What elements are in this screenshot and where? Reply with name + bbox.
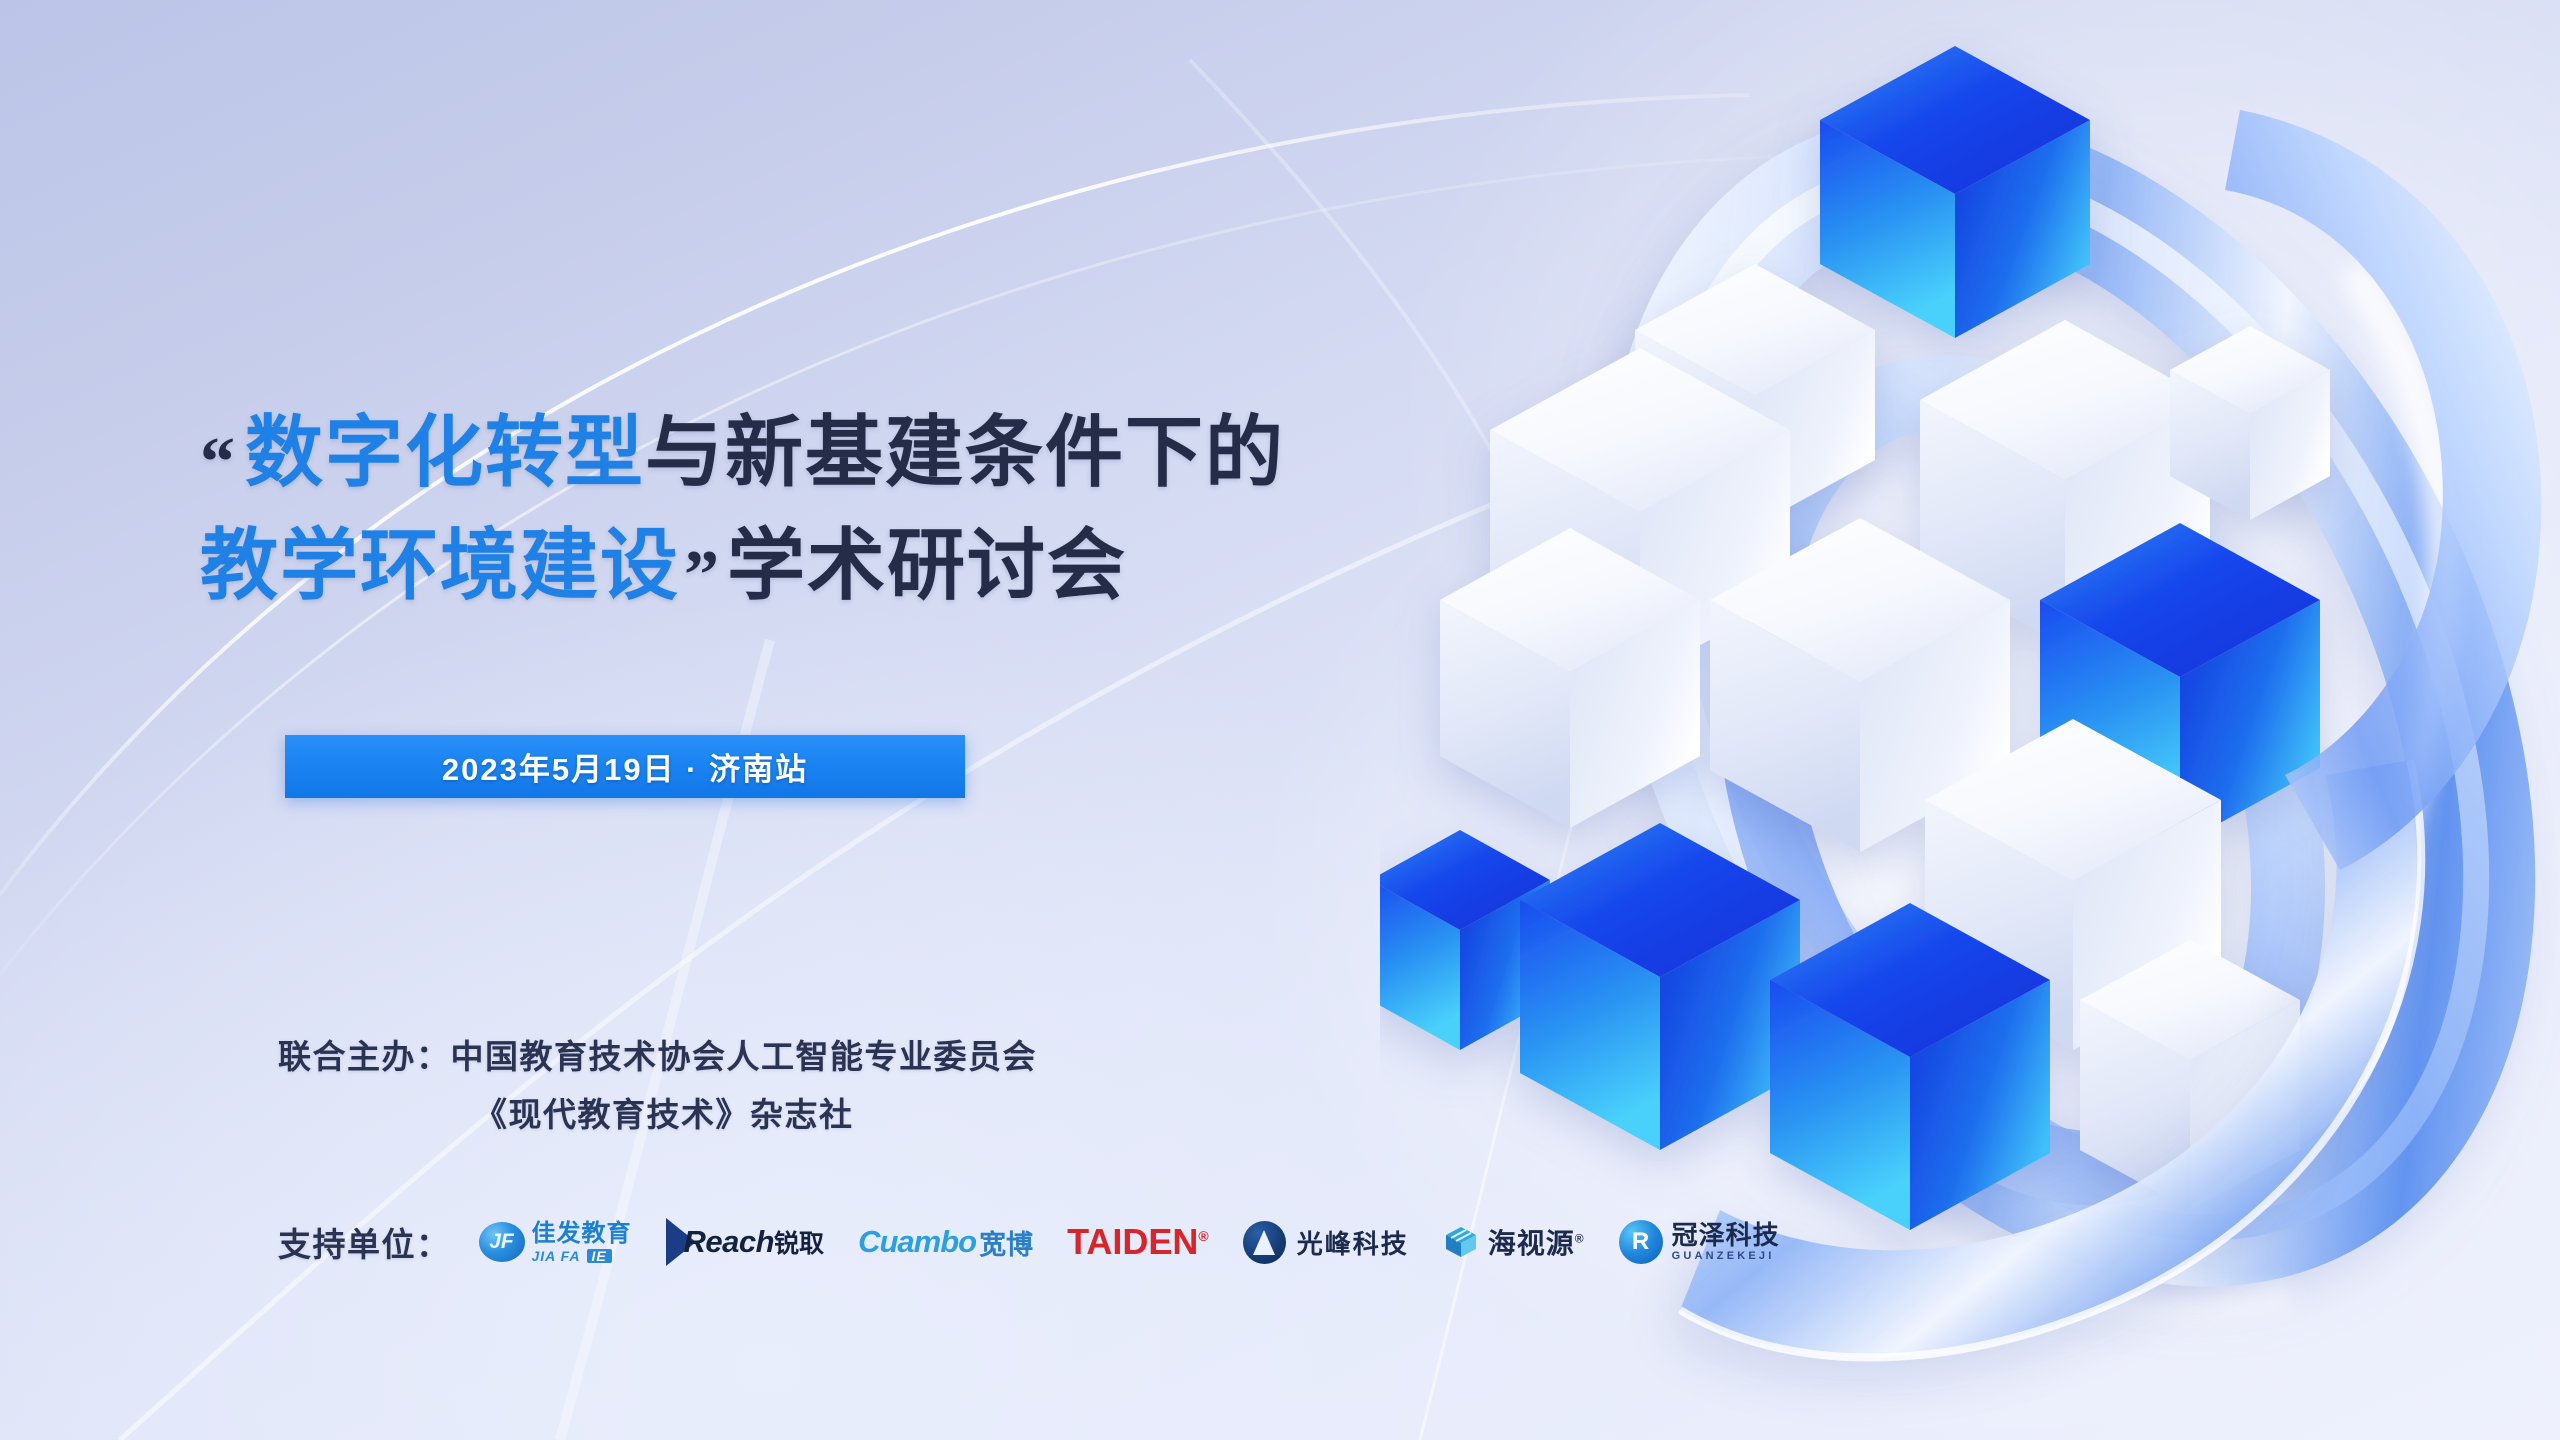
sponsor-reach-en: Reach: [684, 1224, 775, 1260]
sponsor-reach-cn: 锐取: [774, 1224, 824, 1260]
sponsor-jiafa-en: JIA FAIE: [532, 1249, 632, 1263]
title-line2-rest: 学术研讨会: [727, 521, 1127, 609]
sponsors-label: 支持单位：: [278, 1218, 451, 1266]
sponsor-cuambo-cn: 宽博: [979, 1223, 1033, 1262]
circle-r-icon: R: [1619, 1220, 1663, 1264]
organizers-block: 联合主办：中国教育技术协会人工智能专业委员会 《现代教育技术》杂志社: [278, 1028, 1037, 1144]
sponsor-logo-taiden: TAIDEN®: [1067, 1214, 1209, 1270]
sponsor-logo-appotronics: 光峰科技: [1243, 1214, 1409, 1270]
open-quote: “: [200, 424, 245, 501]
cube-stack-icon: [1443, 1224, 1479, 1260]
sponsor-logo-reach: Reach 锐取: [666, 1214, 825, 1270]
sponsor-cuambo-en: Cuambo: [858, 1224, 976, 1260]
sponsor-appotronics-cn: 光峰科技: [1297, 1224, 1409, 1261]
event-title: “数字化转型与新基建条件下的 教学环境建设”学术研讨会: [200, 398, 1380, 624]
title-line2-highlight: 教学环境建设: [200, 521, 680, 609]
jp-monogram-icon: JF: [479, 1222, 525, 1262]
date-location-badge: 2023年5月19日 · 济南站: [285, 735, 965, 798]
sponsor-jiafa-cn: 佳发教育: [532, 1222, 632, 1246]
sponsor-haishiyuan-cn: 海视源®: [1488, 1222, 1585, 1262]
text-content: “数字化转型与新基建条件下的 教学环境建设”学术研讨会 2023年5月19日 ·…: [0, 0, 1400, 1440]
sponsor-logo-guanzekeji: R 冠泽科技 GUANZEKEJI: [1619, 1214, 1780, 1270]
triangle-badge-icon: [1243, 1221, 1286, 1264]
title-line1-rest: 与新基建条件下的: [645, 408, 1285, 496]
organizer-line-1: 联合主办：中国教育技术协会人工智能专业委员会: [278, 1028, 1037, 1086]
title-line1-highlight: 数字化转型: [245, 408, 645, 496]
date-location-text: 2023年5月19日 · 济南站: [442, 744, 808, 789]
organizer-line-2: 《现代教育技术》杂志社: [278, 1086, 1037, 1144]
title-line-2: 教学环境建设”学术研讨会: [200, 511, 1380, 624]
sponsor-logo-jiafa: JF 佳发教育 JIA FAIE: [479, 1214, 632, 1270]
registered-mark-icon: ®: [1198, 1228, 1208, 1244]
sponsor-guanze-en: GUANZEKEJI: [1672, 1251, 1780, 1262]
sponsor-logo-haishiyuan: 海视源®: [1443, 1214, 1585, 1270]
registered-mark-icon: ®: [1575, 1232, 1585, 1246]
sponsor-guanze-cn: 冠泽科技: [1672, 1222, 1780, 1248]
sponsors-row: 支持单位： JF 佳发教育 JIA FAIE Reach 锐取 Cuambo 宽…: [278, 1208, 1780, 1276]
title-line-1: “数字化转型与新基建条件下的: [200, 398, 1380, 511]
close-quote: ”: [680, 537, 727, 614]
poster-canvas: “数字化转型与新基建条件下的 教学环境建设”学术研讨会 2023年5月19日 ·…: [0, 0, 2560, 1440]
sponsor-logo-cuambo: Cuambo 宽博: [858, 1214, 1033, 1270]
sponsor-jiafa-badge: IE: [587, 1249, 612, 1263]
sponsor-taiden-en: TAIDEN®: [1067, 1221, 1209, 1263]
